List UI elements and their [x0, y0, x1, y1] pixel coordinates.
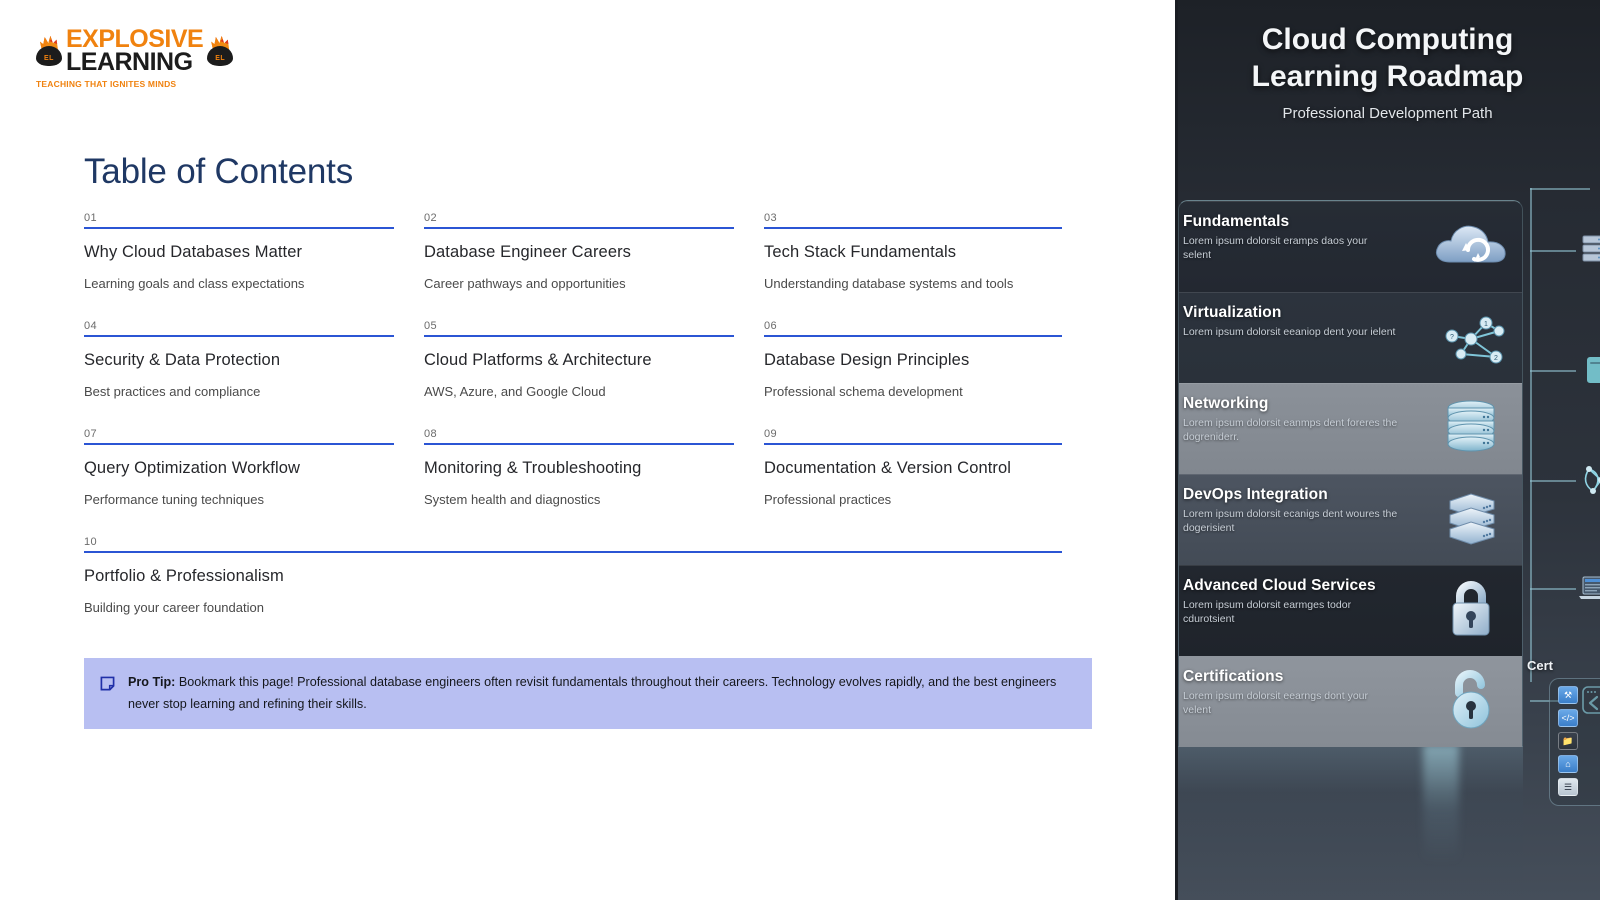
- graph-node-icon: [1575, 460, 1600, 500]
- card-text: Fundamentals Lorem ipsum dolorsit eramps…: [1179, 213, 1522, 263]
- roadmap-title-line2: Learning Roadmap: [1189, 59, 1586, 96]
- toc-heading: Cloud Platforms & Architecture: [424, 351, 734, 370]
- logo-badge-text: EL: [36, 55, 62, 63]
- toc-heading: Query Optimization Workflow: [84, 459, 394, 478]
- toc-entry-05[interactable]: 05 Cloud Platforms & Architecture AWS, A…: [424, 320, 764, 428]
- toc-subtitle: Understanding database systems and tools: [764, 276, 1062, 291]
- tree-cert-label: Cert: [1527, 658, 1600, 673]
- toc-subtitle: Building your career foundation: [84, 600, 1062, 615]
- toc-divider: [424, 443, 734, 445]
- cert-badge-icon-1: ⚒: [1558, 686, 1578, 704]
- floor-light-reflection: [1423, 744, 1459, 864]
- card-body: Lorem ipsum dolorsit eearngs dont your v…: [1183, 689, 1398, 718]
- tree-branch-2: [1530, 370, 1576, 372]
- toc-divider: [424, 227, 734, 229]
- toc-entry-06[interactable]: 06 Database Design Principles Profession…: [764, 320, 1092, 428]
- toc-subtitle: Performance tuning techniques: [84, 492, 394, 507]
- toc-heading: Database Design Principles: [764, 351, 1062, 370]
- toc-entry-02[interactable]: 02 Database Engineer Careers Career path…: [424, 212, 764, 320]
- logo-tagline: TEACHING THAT IGNITES MINDS: [36, 79, 196, 89]
- logo-wordmark: EXPLOSIVE LEARNING: [66, 28, 203, 74]
- cert-folder-icon-3: 📁: [1558, 732, 1578, 750]
- logo-word-learning: LEARNING: [66, 51, 203, 74]
- laptop-node-icon: [1575, 568, 1600, 608]
- pro-tip-callout: Pro Tip: Bookmark this page! Professiona…: [84, 658, 1092, 729]
- toc-number: 06: [764, 320, 1062, 335]
- logo-badge-text-right: EL: [207, 55, 233, 63]
- card-separator: [1179, 383, 1522, 384]
- toc-heading: Database Engineer Careers: [424, 243, 734, 262]
- roadmap-title-line1: Cloud Computing: [1189, 22, 1586, 59]
- toc-number: 05: [424, 320, 734, 335]
- toc-subtitle: Best practices and compliance: [84, 384, 394, 399]
- card-text: Virtualization Lorem ipsum dolorsit eean…: [1179, 304, 1522, 339]
- roadmap-card-virtualization[interactable]: Virtualization Lorem ipsum dolorsit eean…: [1179, 292, 1522, 383]
- toc-entry-10[interactable]: 10 Portfolio & Professionalism Building …: [84, 536, 1092, 644]
- card-separator: [1179, 565, 1522, 566]
- card-title: Certifications: [1183, 668, 1522, 686]
- card-title: Fundamentals: [1183, 213, 1522, 231]
- toc-number: 10: [84, 536, 1062, 551]
- brand-logo: EL EXPLOSIVE LEARNING EL TEACHING THAT I…: [36, 28, 196, 92]
- card-body: Lorem ipsum dolorsit eeaniop dent your i…: [1183, 325, 1398, 339]
- toc-number: 04: [84, 320, 394, 335]
- toc-divider: [764, 443, 1062, 445]
- cert-document-icon-5: ☰: [1558, 778, 1578, 796]
- cert-code-icon-2: </>: [1558, 709, 1578, 727]
- toc-entry-08[interactable]: 08 Monitoring & Troubleshooting System h…: [424, 428, 764, 536]
- tree-top-link: [1530, 188, 1590, 190]
- roadmap-card-stack: Fundamentals Lorem ipsum dolorsit eramps…: [1178, 200, 1523, 747]
- roadmap-title: Cloud Computing Learning Roadmap: [1189, 22, 1586, 95]
- toc-subtitle: Career pathways and opportunities: [424, 276, 734, 291]
- pro-tip-text: Pro Tip: Bookmark this page! Professiona…: [128, 672, 1070, 715]
- cert-home-icon-4: ⌂: [1558, 755, 1578, 773]
- card-separator: [1179, 292, 1522, 293]
- toc-divider: [84, 335, 394, 337]
- logo-row: EL EXPLOSIVE LEARNING EL: [36, 28, 196, 74]
- toc-number: 03: [764, 212, 1062, 227]
- toc-entry-01[interactable]: 01 Why Cloud Databases Matter Learning g…: [84, 212, 424, 320]
- flame-head-icon: EL: [36, 36, 62, 66]
- page-title: Table of Contents: [84, 152, 353, 192]
- toc-divider: [84, 443, 394, 445]
- document-area: EL EXPLOSIVE LEARNING EL TEACHING THAT I…: [0, 0, 1175, 900]
- card-body: Lorem ipsum dolorsit earmges todor cduro…: [1183, 598, 1398, 627]
- roadmap-card-fundamentals[interactable]: Fundamentals Lorem ipsum dolorsit eramps…: [1179, 201, 1522, 292]
- roadmap-header: Cloud Computing Learning Roadmap Profess…: [1175, 0, 1600, 122]
- toc-heading: Why Cloud Databases Matter: [84, 243, 394, 262]
- card-text: Networking Lorem ipsum dolorsit eanmps d…: [1179, 395, 1522, 445]
- reflective-floor: [1178, 746, 1523, 900]
- card-separator: [1179, 474, 1522, 475]
- card-body: Lorem ipsum dolorsit ecanigs dent woures…: [1183, 507, 1398, 536]
- card-separator: [1179, 201, 1522, 202]
- toc-subtitle: AWS, Azure, and Google Cloud: [424, 384, 734, 399]
- toc-number: 07: [84, 428, 394, 443]
- card-title: DevOps Integration: [1183, 486, 1522, 504]
- toc-divider: [424, 335, 734, 337]
- toc-entry-07[interactable]: 07 Query Optimization Workflow Performan…: [84, 428, 424, 536]
- card-text: Certifications Lorem ipsum dolorsit eear…: [1179, 668, 1522, 718]
- flame-head-icon-right: EL: [207, 36, 233, 66]
- slide-canvas: EL EXPLOSIVE LEARNING EL TEACHING THAT I…: [0, 0, 1600, 900]
- roadmap-card-certifications[interactable]: Certifications Lorem ipsum dolorsit eear…: [1179, 656, 1522, 747]
- toc-divider: [84, 551, 1062, 553]
- tree-spine: [1530, 188, 1532, 682]
- card-title: Advanced Cloud Services: [1183, 577, 1522, 595]
- tree-branch-3: [1530, 480, 1576, 482]
- toc-number: 08: [424, 428, 734, 443]
- toc-heading: Documentation & Version Control: [764, 459, 1062, 478]
- pro-tip-label: Pro Tip:: [128, 675, 175, 689]
- roadmap-card-networking[interactable]: Networking Lorem ipsum dolorsit eanmps d…: [1179, 383, 1522, 474]
- roadmap-card-advanced-cloud[interactable]: Advanced Cloud Services Lorem ipsum dolo…: [1179, 565, 1522, 656]
- roadmap-subtitle: Professional Development Path: [1189, 105, 1586, 122]
- card-title: Virtualization: [1183, 304, 1522, 322]
- toc-heading: Security & Data Protection: [84, 351, 394, 370]
- pro-tip-body: Bookmark this page! Professional databas…: [128, 675, 1056, 711]
- server-node-icon: [1575, 230, 1600, 270]
- bookmark-note-icon: [100, 676, 118, 696]
- toc-number: 01: [84, 212, 394, 227]
- toc-entry-03[interactable]: 03 Tech Stack Fundamentals Understanding…: [764, 212, 1092, 320]
- toc-subtitle: Professional practices: [764, 492, 1062, 507]
- toc-entry-09[interactable]: 09 Documentation & Version Control Profe…: [764, 428, 1092, 536]
- toc-divider: [764, 335, 1062, 337]
- card-text: DevOps Integration Lorem ipsum dolorsit …: [1179, 486, 1522, 536]
- toc-divider: [764, 227, 1062, 229]
- card-node-icon: [1575, 350, 1600, 390]
- toc-subtitle: Learning goals and class expectations: [84, 276, 394, 291]
- tree-branch-1: [1530, 250, 1576, 252]
- card-body: Lorem ipsum dolorsit eramps daos your se…: [1183, 234, 1398, 263]
- svg-text:2: 2: [1494, 355, 1498, 362]
- roadmap-image-panel: Cloud Computing Learning Roadmap Profess…: [1175, 0, 1600, 900]
- toc-number: 09: [764, 428, 1062, 443]
- certification-icon-list: ⚒ </> 📁 ⌂ ☰: [1549, 678, 1600, 806]
- card-text: Advanced Cloud Services Lorem ipsum dolo…: [1179, 577, 1522, 627]
- toc-number: 02: [424, 212, 734, 227]
- card-title: Networking: [1183, 395, 1522, 413]
- toc-heading: Monitoring & Troubleshooting: [424, 459, 734, 478]
- tree-branch-4: [1530, 588, 1576, 590]
- toc-subtitle: System health and diagnostics: [424, 492, 734, 507]
- toc-entry-04[interactable]: 04 Security & Data Protection Best pract…: [84, 320, 424, 428]
- toc-heading: Tech Stack Fundamentals: [764, 243, 1062, 262]
- toc-subtitle: Professional schema development: [764, 384, 1062, 399]
- card-body: Lorem ipsum dolorsit eanmps dent foreres…: [1183, 416, 1398, 445]
- toc-heading: Portfolio & Professionalism: [84, 567, 1062, 586]
- table-of-contents: 01 Why Cloud Databases Matter Learning g…: [84, 212, 1092, 644]
- roadmap-card-devops[interactable]: DevOps Integration Lorem ipsum dolorsit …: [1179, 474, 1522, 565]
- toc-divider: [84, 227, 394, 229]
